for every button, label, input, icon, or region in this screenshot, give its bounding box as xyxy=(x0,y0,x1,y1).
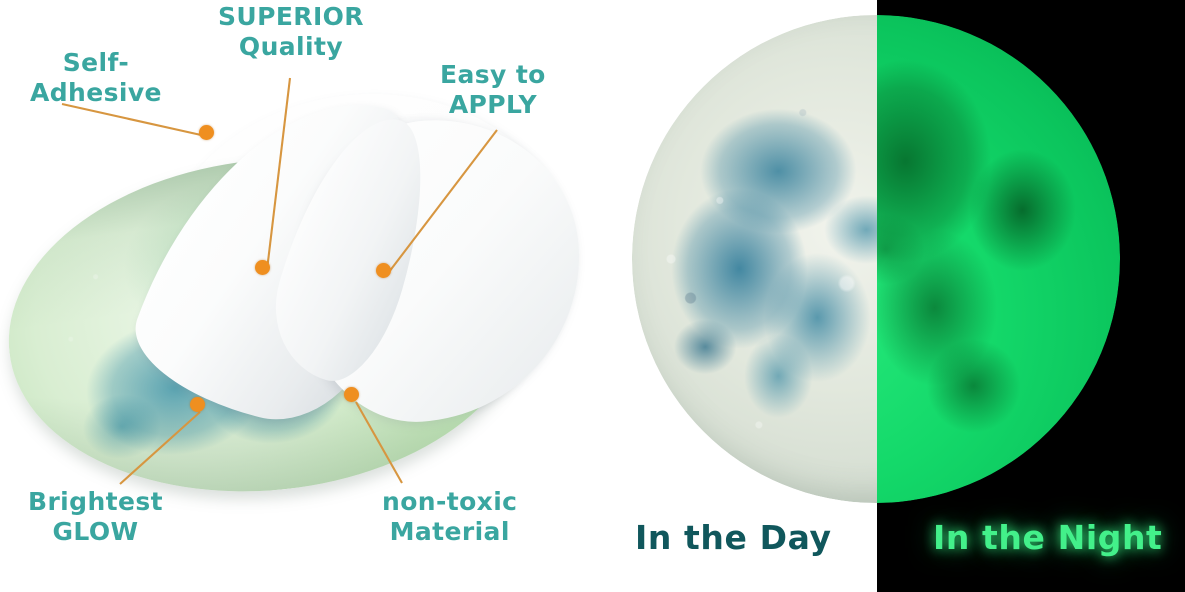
callout-dot-superior-quality[interactable] xyxy=(255,260,270,275)
callout-dot-easy-to-apply[interactable] xyxy=(376,263,391,278)
moon-daytime-surface xyxy=(632,15,877,503)
callout-label-brightest-glow: Brightest GLOW xyxy=(28,487,163,546)
moon-daytime-half xyxy=(632,15,877,503)
right-panel-day-night-comparison: In the Day In the Night xyxy=(600,0,1185,592)
moon-daytime-craters xyxy=(632,15,877,503)
callout-label-superior-quality: SUPERIOR Quality xyxy=(218,2,364,61)
moon-glowing-surface xyxy=(877,15,1120,503)
callout-dot-brightest-glow[interactable] xyxy=(190,397,205,412)
caption-in-the-day: In the Day xyxy=(635,518,832,557)
moon-nighttime-half xyxy=(877,15,1120,503)
callout-dot-non-toxic-material[interactable] xyxy=(344,387,359,402)
left-panel-peeling-sticker: Self- Adhesive SUPERIOR Quality Easy to … xyxy=(0,0,600,592)
moon-sticker-comparison xyxy=(632,15,1120,503)
product-feature-image: Self- Adhesive SUPERIOR Quality Easy to … xyxy=(0,0,1185,592)
callout-label-non-toxic-material: non-toxic Material xyxy=(382,487,517,546)
callout-label-easy-to-apply: Easy to APPLY xyxy=(440,60,546,119)
callout-label-self-adhesive: Self- Adhesive xyxy=(30,48,162,107)
caption-in-the-night: In the Night xyxy=(933,518,1162,557)
callout-dot-self-adhesive[interactable] xyxy=(199,125,214,140)
